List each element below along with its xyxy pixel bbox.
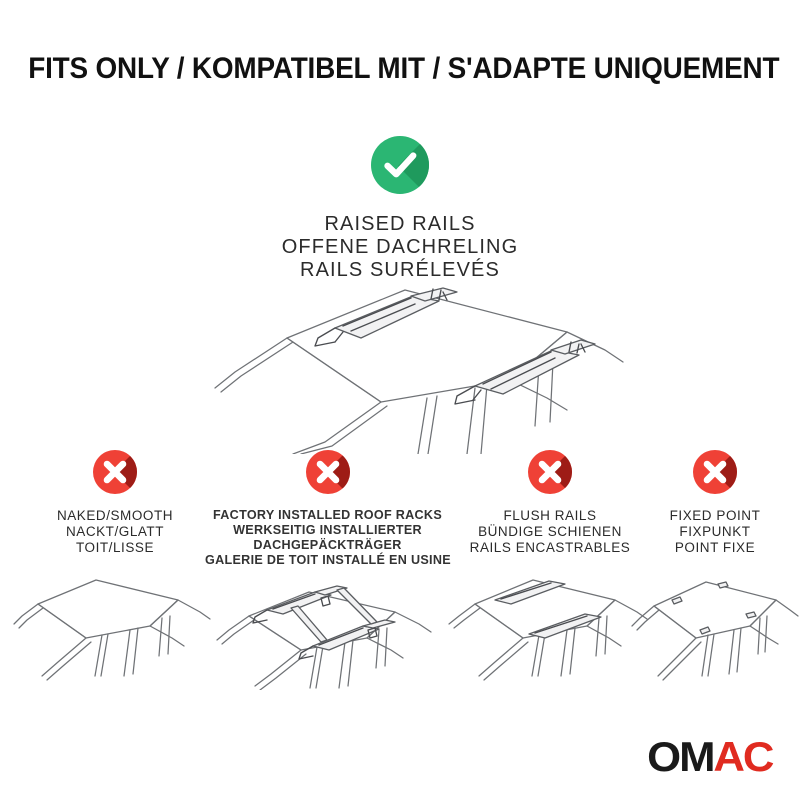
label-fr: POINT FIXE xyxy=(630,540,800,556)
omac-logo: OMAC xyxy=(647,736,772,778)
compatible-section: RAISED RAILS OFFENE DACHRELING RAILS SUR… xyxy=(0,136,800,282)
label-de: WERKSEITIG INSTALLIERTER xyxy=(205,523,450,538)
badge-wrap xyxy=(10,450,220,499)
incompatible-labels-flush-rails: FLUSH RAILS BÜNDIGE SCHIENEN RAILS ENCAS… xyxy=(445,508,655,556)
label-en: FACTORY INSTALLED ROOF RACKS xyxy=(205,508,450,523)
incompatible-item-flush-rails: FLUSH RAILS BÜNDIGE SCHIENEN RAILS ENCAS… xyxy=(445,450,655,684)
label-de: NACKT/GLATT xyxy=(10,524,220,540)
logo-text-accent: AC xyxy=(713,733,772,780)
label-fr: GALERIE DE TOIT INSTALLÉ EN USINE xyxy=(205,553,450,568)
compatible-labels: RAISED RAILS OFFENE DACHRELING RAILS SUR… xyxy=(0,213,800,282)
page-title-text: FITS ONLY / KOMPATIBEL MIT / S'ADAPTE UN… xyxy=(28,52,779,86)
label-fr: RAILS ENCASTRABLES xyxy=(445,540,655,556)
page-title: FITS ONLY / KOMPATIBEL MIT / S'ADAPTE UN… xyxy=(0,52,800,86)
car-roof-fixed-point-illustration xyxy=(630,564,800,684)
label-de-2: DACHGEPÄCKTRÄGER xyxy=(205,538,450,553)
car-roof-factory-racks-illustration xyxy=(205,570,450,690)
incompatible-item-fixed-point: FIXED POINT FIXPUNKT POINT FIXE xyxy=(630,450,800,684)
label-en: NAKED/SMOOTH xyxy=(10,508,220,524)
incompatible-item-factory-roof-racks: FACTORY INSTALLED ROOF RACKS WERKSEITIG … xyxy=(205,450,450,690)
badge-wrap xyxy=(445,450,655,499)
label-fr: TOIT/LISSE xyxy=(10,540,220,556)
compatible-label-de: OFFENE DACHRELING xyxy=(0,236,800,259)
x-circle-icon xyxy=(93,450,137,494)
car-roof-flush-rails-illustration xyxy=(445,564,655,684)
label-de: BÜNDIGE SCHIENEN xyxy=(445,524,655,540)
x-circle-icon xyxy=(306,450,350,494)
label-de: FIXPUNKT xyxy=(630,524,800,540)
incompatible-labels-factory-roof-racks: FACTORY INSTALLED ROOF RACKS WERKSEITIG … xyxy=(205,508,450,568)
logo-text-primary: OM xyxy=(647,733,713,780)
x-circle-icon xyxy=(693,450,737,494)
compatible-label-en: RAISED RAILS xyxy=(0,213,800,236)
incompatible-labels-fixed-point: FIXED POINT FIXPUNKT POINT FIXE xyxy=(630,508,800,556)
compatibility-infographic: FITS ONLY / KOMPATIBEL MIT / S'ADAPTE UN… xyxy=(0,0,800,800)
badge-wrap xyxy=(630,450,800,499)
badge-wrap xyxy=(205,450,450,499)
car-roof-naked-illustration xyxy=(10,564,220,684)
x-circle-icon xyxy=(528,450,572,494)
label-en: FIXED POINT xyxy=(630,508,800,524)
car-roof-raised-rails-illustration xyxy=(175,276,625,454)
incompatible-labels-naked-smooth: NAKED/SMOOTH NACKT/GLATT TOIT/LISSE xyxy=(10,508,220,556)
check-circle-icon xyxy=(371,136,429,194)
incompatible-item-naked-smooth: NAKED/SMOOTH NACKT/GLATT TOIT/LISSE xyxy=(10,450,220,684)
label-en: FLUSH RAILS xyxy=(445,508,655,524)
